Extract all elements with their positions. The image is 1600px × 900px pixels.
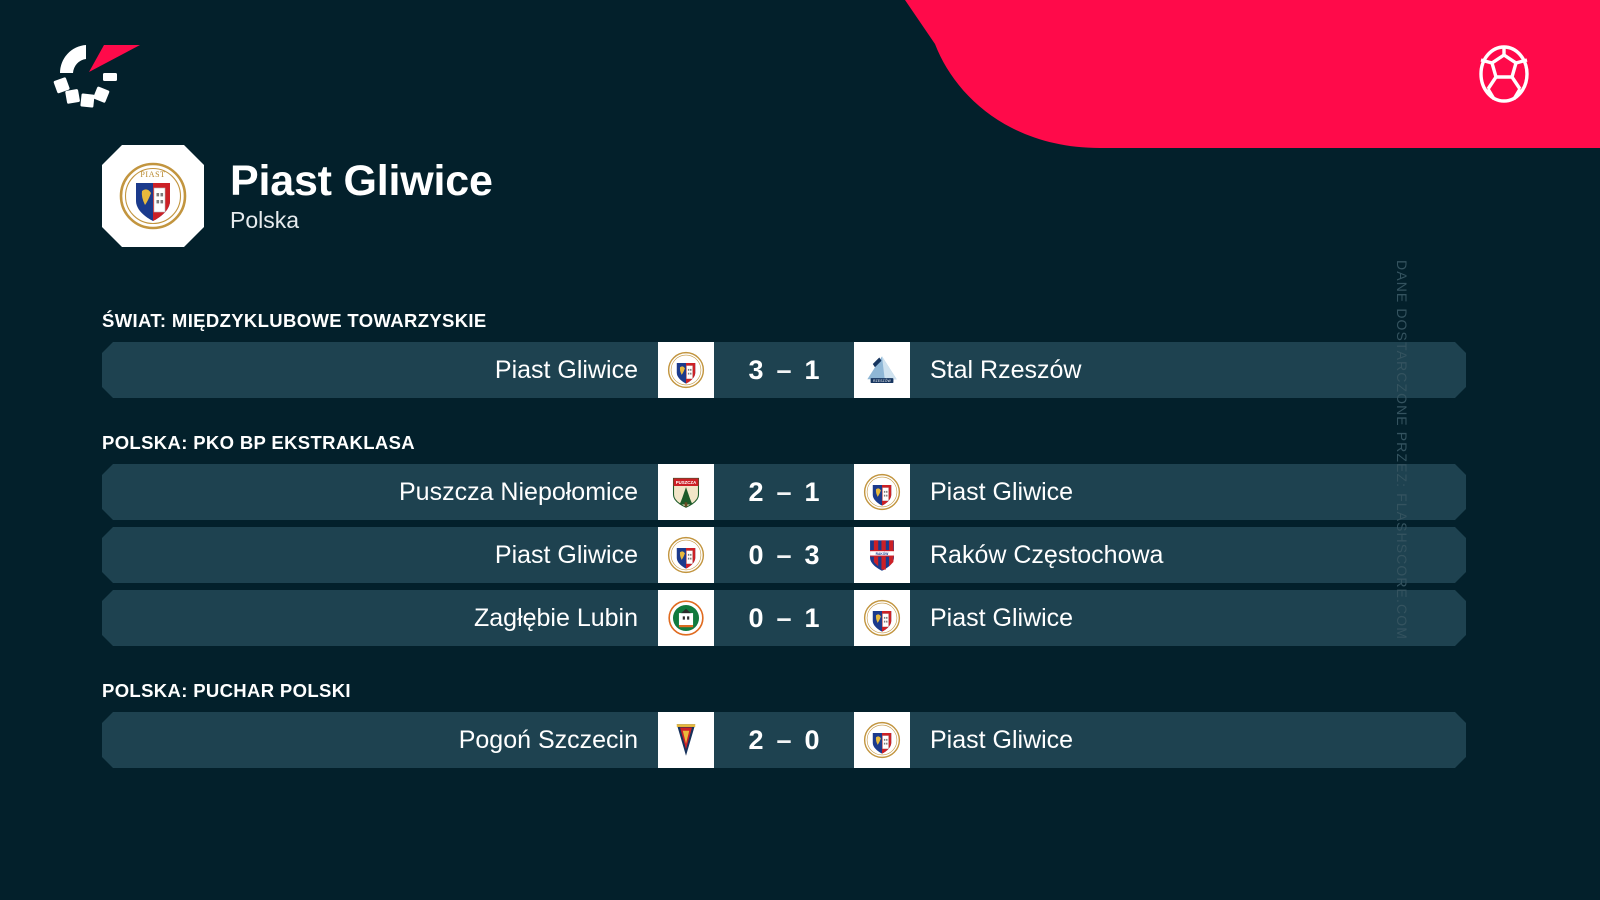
home-team-name: Piast Gliwice [102, 342, 658, 398]
piast-gliwice-crest-icon [863, 473, 901, 511]
score-separator: – [776, 540, 791, 571]
piast-gliwice-crest-icon [667, 351, 705, 389]
match-row[interactable]: Pogoń Szczecin 2–0 Piast Gliwice [102, 712, 1466, 768]
match-score: 0–1 [714, 590, 854, 646]
stal-rzeszow-crest-icon: RZESZÓW [863, 351, 901, 389]
match-row[interactable]: Zagłębie Lubin 0–1 Piast Gliwice [102, 590, 1466, 646]
match-score: 0–3 [714, 527, 854, 583]
away-team-badge [854, 464, 910, 520]
home-team-badge: PUSZCZA [658, 464, 714, 520]
match-row[interactable]: Piast Gliwice 3–1 RZESZÓW Stal Rzeszów [102, 342, 1466, 398]
home-score: 3 [748, 355, 763, 386]
away-score: 0 [805, 725, 820, 756]
score-separator: – [776, 603, 791, 634]
home-team-name: Piast Gliwice [102, 527, 658, 583]
score-separator: – [776, 477, 791, 508]
away-team-badge [854, 712, 910, 768]
page-title: Piast Gliwice [230, 157, 493, 205]
match-score: 2–1 [714, 464, 854, 520]
home-team-badge [658, 527, 714, 583]
away-team-name: Piast Gliwice [910, 464, 1466, 520]
competition-section: POLSKA: PUCHAR POLSKIPogoń Szczecin 2–0 … [102, 670, 1466, 768]
pogon-szczecin-crest-icon [667, 721, 705, 759]
match-score: 2–0 [714, 712, 854, 768]
competition-title[interactable]: ŚWIAT: MIĘDZYKLUBOWE TOWARZYSKIE [102, 300, 1466, 342]
piast-gliwice-crest-icon: PIAST [118, 161, 188, 231]
rakow-czestochowa-crest-icon: RAKÓW [863, 536, 901, 574]
away-score: 3 [805, 540, 820, 571]
puszcza-niepolomice-crest-icon: PUSZCZA [667, 473, 705, 511]
away-team-name: Stal Rzeszów [910, 342, 1466, 398]
home-team-badge [658, 342, 714, 398]
team-crest-tile: PIAST [102, 145, 204, 247]
home-team-name: Pogoń Szczecin [102, 712, 658, 768]
piast-gliwice-crest-icon [863, 721, 901, 759]
home-team-name: Puszcza Niepołomice [102, 464, 658, 520]
match-score: 3–1 [714, 342, 854, 398]
header-banner [0, 0, 1600, 160]
svg-text:RAKÓW: RAKÓW [876, 551, 890, 556]
flashscore-logo-icon [42, 33, 150, 109]
home-score: 0 [748, 603, 763, 634]
competition-title[interactable]: POLSKA: PKO BP EKSTRAKLASA [102, 422, 1466, 464]
home-team-name: Zagłębie Lubin [102, 590, 658, 646]
match-row[interactable]: Piast Gliwice 0–3 RAKÓW Raków Częstochow… [102, 527, 1466, 583]
matches-list: ŚWIAT: MIĘDZYKLUBOWE TOWARZYSKIEPiast Gl… [102, 300, 1466, 768]
match-row[interactable]: Puszcza Niepołomice PUSZCZA 2–1 Piast Gl… [102, 464, 1466, 520]
team-country: Polska [230, 207, 493, 235]
away-team-name: Piast Gliwice [910, 712, 1466, 768]
flashscore-watermark: DANE DOSTARCZONE PRZEZ: FLASHSCORE.COM [1394, 260, 1410, 640]
competition-section: ŚWIAT: MIĘDZYKLUBOWE TOWARZYSKIEPiast Gl… [102, 300, 1466, 398]
score-separator: – [776, 725, 791, 756]
score-separator: – [776, 355, 791, 386]
home-score: 2 [748, 477, 763, 508]
away-team-badge [854, 590, 910, 646]
competition-section: POLSKA: PKO BP EKSTRAKLASAPuszcza Niepoł… [102, 422, 1466, 646]
away-team-name: Piast Gliwice [910, 590, 1466, 646]
away-score: 1 [805, 355, 820, 386]
svg-text:PIAST: PIAST [140, 170, 165, 179]
away-team-name: Raków Częstochowa [910, 527, 1466, 583]
piast-gliwice-crest-icon [667, 536, 705, 574]
home-score: 2 [748, 725, 763, 756]
away-score: 1 [805, 477, 820, 508]
svg-text:PUSZCZA: PUSZCZA [676, 480, 697, 485]
home-score: 0 [748, 540, 763, 571]
team-header: PIAST Piast Gliwice Polska [102, 145, 493, 247]
zaglebie-lubin-crest-icon [667, 599, 705, 637]
away-team-badge: RZESZÓW [854, 342, 910, 398]
svg-text:RZESZÓW: RZESZÓW [873, 378, 891, 383]
away-score: 1 [805, 603, 820, 634]
home-team-badge [658, 712, 714, 768]
home-team-badge [658, 590, 714, 646]
competition-title[interactable]: POLSKA: PUCHAR POLSKI [102, 670, 1466, 712]
football-icon [1473, 43, 1535, 105]
away-team-badge: RAKÓW [854, 527, 910, 583]
piast-gliwice-crest-icon [863, 599, 901, 637]
